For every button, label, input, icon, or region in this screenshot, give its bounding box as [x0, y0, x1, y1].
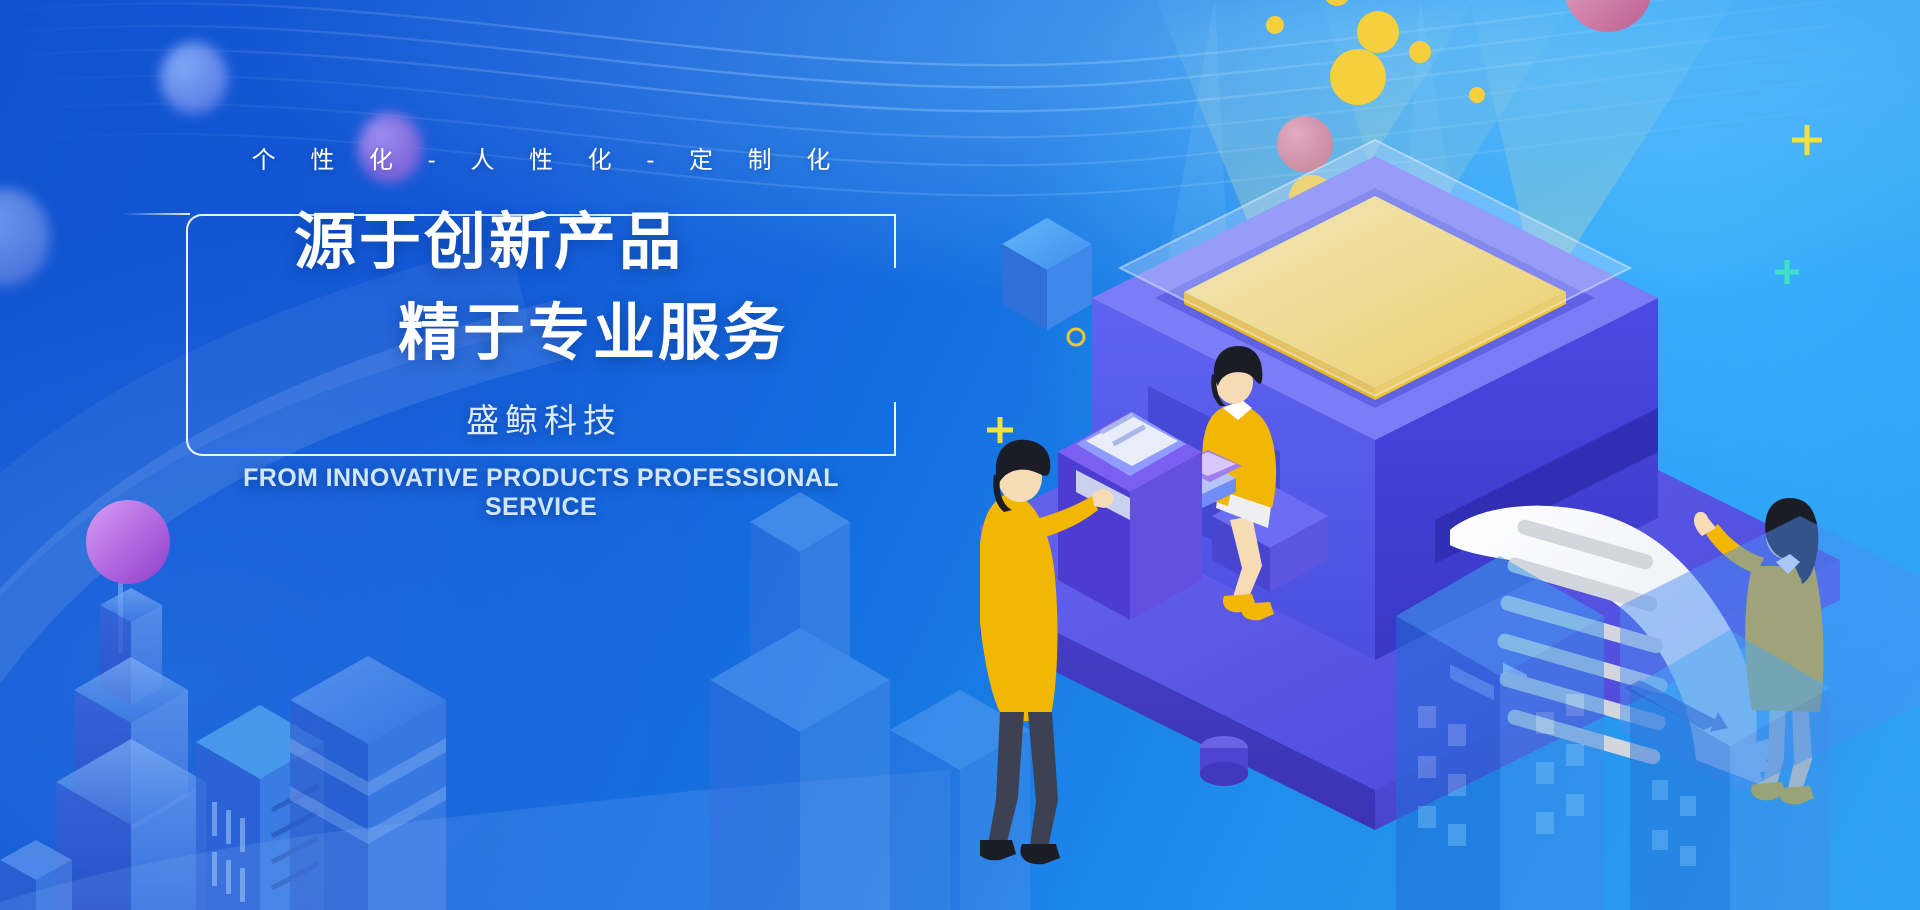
skyline-mid-building	[196, 705, 324, 910]
seated-woman-with-laptop	[1166, 346, 1328, 620]
right-back-platform	[1620, 516, 1920, 792]
base-platform	[980, 330, 1840, 830]
orb-blue-left	[0, 188, 50, 286]
glowing-machine	[1092, 140, 1658, 700]
yellow-bubbles	[1266, 0, 1627, 350]
headline-line-1: 源于创新产品	[186, 207, 896, 276]
plus-marks	[980, 125, 1822, 453]
printed-paper	[1450, 506, 1782, 786]
english-subtitle: FROM INNOVATIVE PRODUCTS PROFESSIONAL SE…	[186, 464, 896, 522]
right-building-cluster	[1300, 490, 1920, 910]
circle-outline-mark	[1068, 329, 1084, 345]
skyline-spire-tower	[56, 583, 206, 910]
standing-woman-with-receipt	[1694, 498, 1823, 804]
tagline: 个 性 化 - 人 性 化 - 定 制 化	[186, 140, 896, 175]
purple-sphere	[86, 500, 170, 584]
hero-banner: 个 性 化 - 人 性 化 - 定 制 化 源于创新产品 精于专业服务 盛鲸科技…	[0, 0, 1920, 910]
floating-cube	[1002, 218, 1092, 330]
orb-pink-right	[1277, 116, 1333, 172]
skyline-cylinder-tower	[290, 656, 446, 910]
arrow-accent	[1624, 680, 1728, 732]
light-beam	[1140, 0, 1760, 300]
brand-name: 盛鲸科技	[186, 394, 896, 442]
skyline-small-blocks	[0, 840, 72, 910]
man-at-kiosk	[980, 412, 1202, 864]
isometric-printing-machine-scene	[980, 0, 1920, 910]
ground-cylinder	[1200, 736, 1248, 786]
laptop	[1166, 450, 1242, 510]
orb-blue-topleft	[160, 42, 228, 114]
headline-line-2: 精于专业服务	[186, 298, 896, 367]
hero-text-block: 个 性 化 - 人 性 化 - 定 制 化 源于创新产品 精于专业服务 盛鲸科技…	[186, 140, 896, 522]
frame-top-accent-line	[122, 213, 190, 215]
pink-sphere	[1564, 0, 1652, 32]
